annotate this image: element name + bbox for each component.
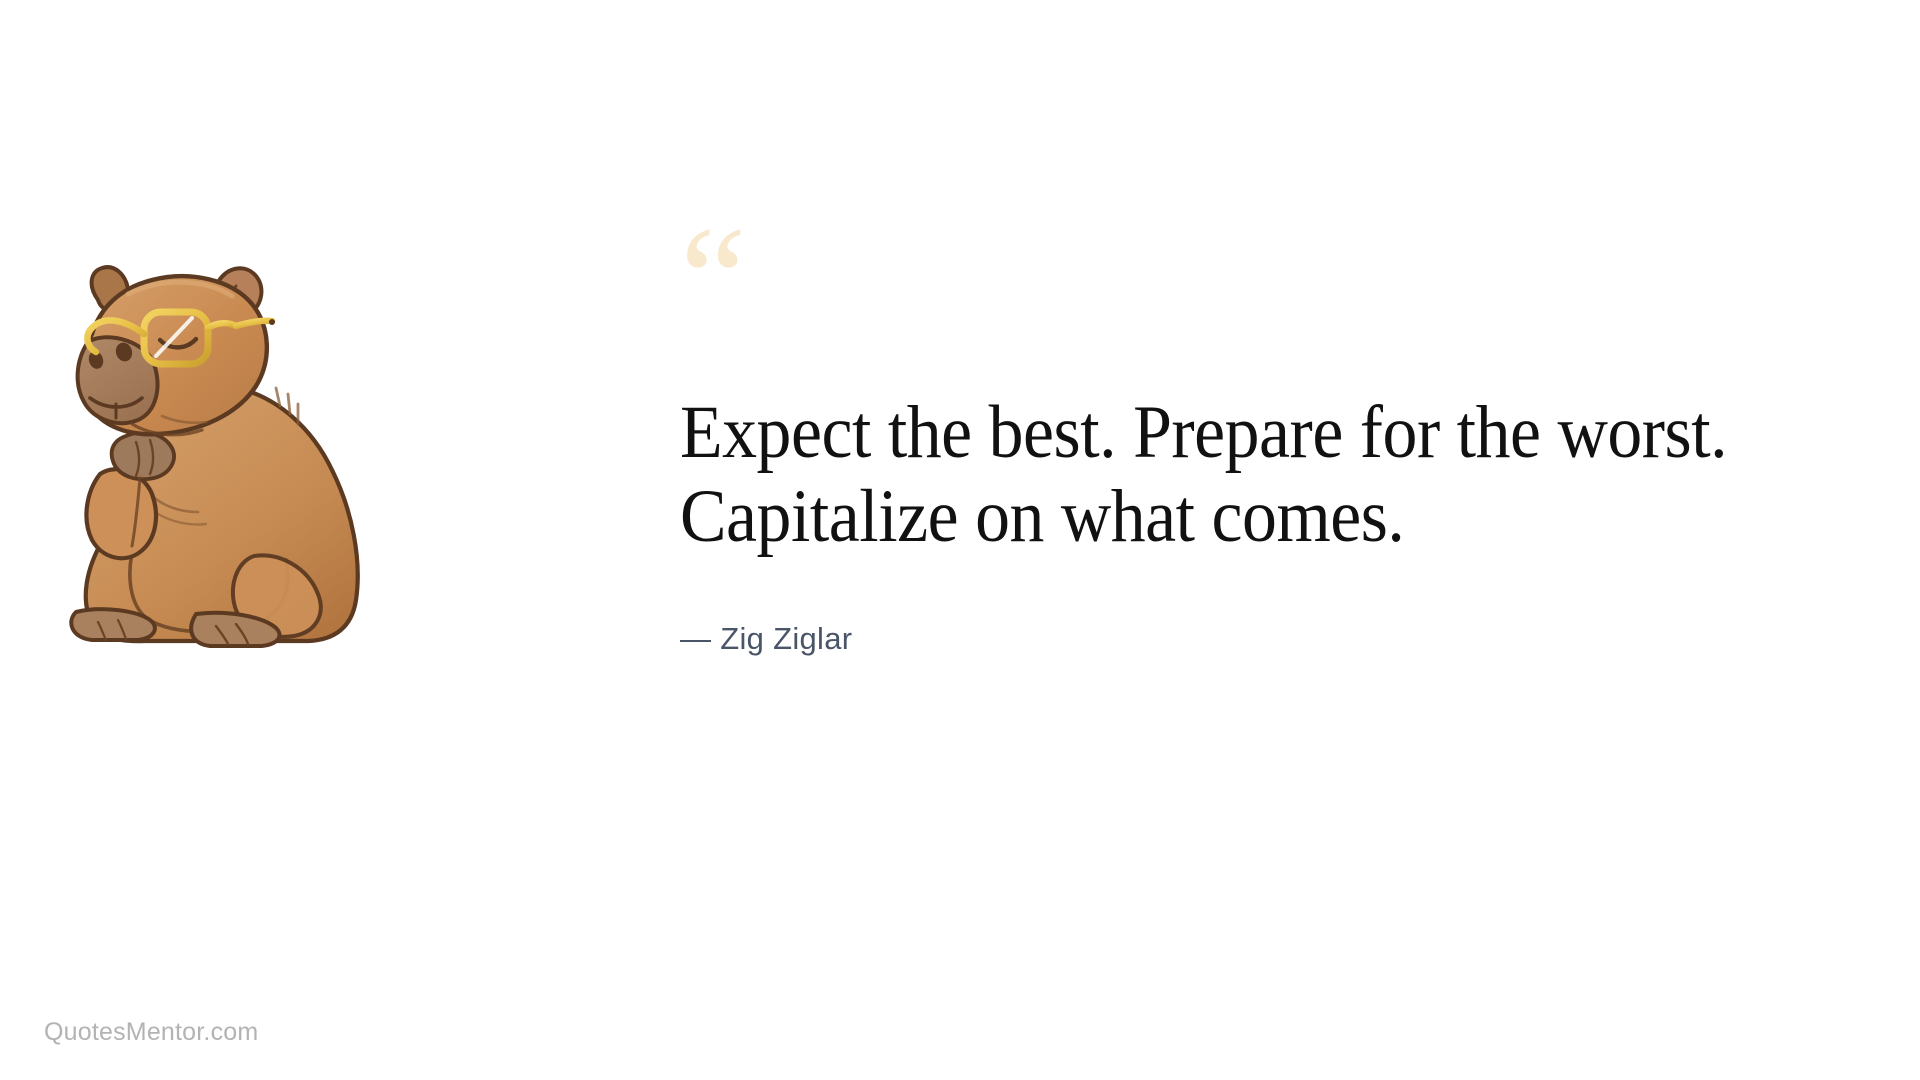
quote-text: Expect the best. Prepare for the worst. … xyxy=(680,391,1736,559)
quote-card: “ Expect the best. Prepare for the worst… xyxy=(0,0,1920,1080)
quote-mark-icon: “ xyxy=(680,225,1840,321)
quote-attribution: — Zig Ziglar xyxy=(680,621,1840,657)
quote-block: “ Expect the best. Prepare for the worst… xyxy=(680,225,1840,657)
capybara-illustration xyxy=(40,238,370,658)
site-watermark: QuotesMentor.com xyxy=(44,1018,258,1047)
